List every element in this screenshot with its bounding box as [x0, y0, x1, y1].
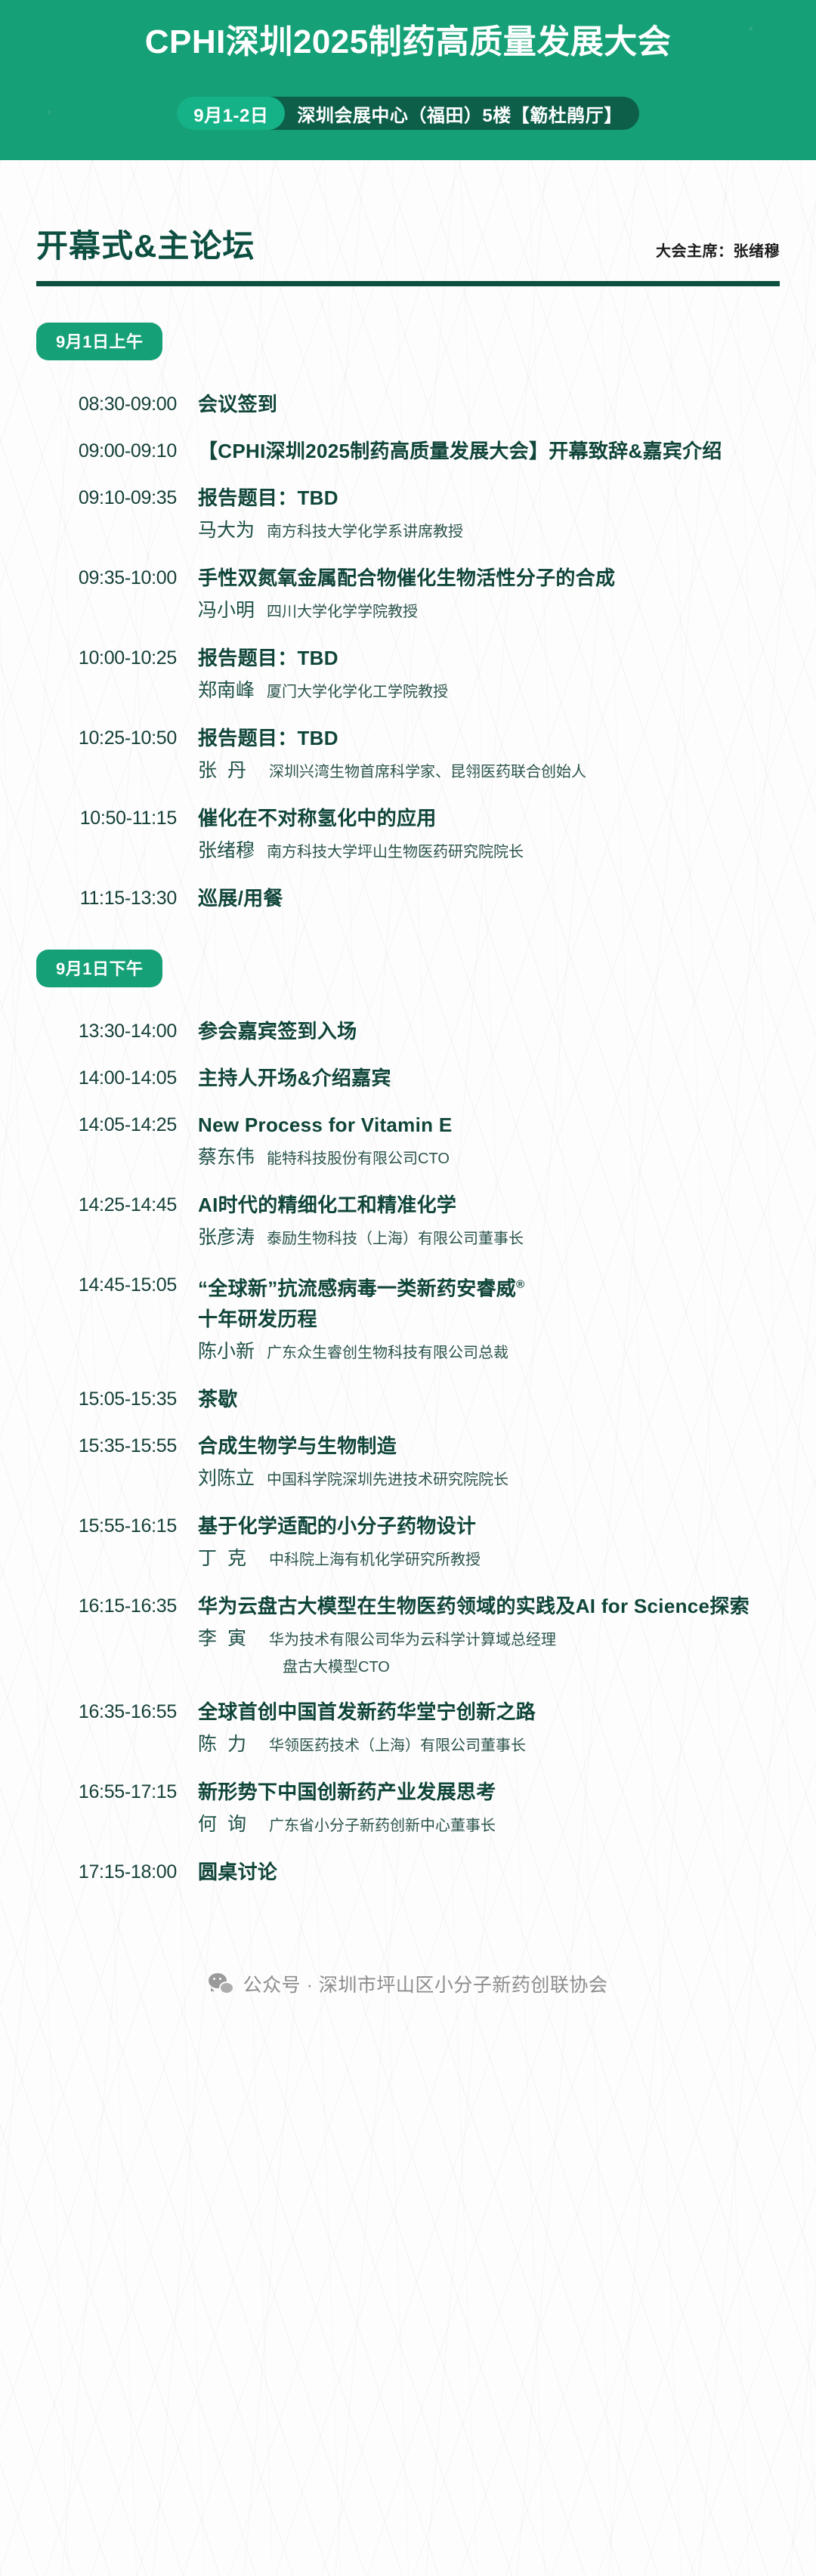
- speaker-organization: 华领医药技术（上海）有限公司董事长: [257, 1731, 526, 1760]
- agenda-row-time: 10:00-10:25: [36, 643, 177, 673]
- agenda-row-body: 基于化学适配的小分子药物设计丁克中科院上海有机化学研究所教授: [177, 1511, 780, 1574]
- speaker-organization: 南方科技大学化学系讲席教授: [255, 517, 463, 546]
- footer-label: 公众号 · 深圳市坪山区小分子新药创联协会: [243, 1970, 608, 1997]
- speaker-organization: 南方科技大学坪山生物医药研究院院长: [255, 838, 524, 866]
- agenda-row-title: 巡展/用餐: [198, 883, 780, 913]
- section-chair: 大会主席：张绪穆: [656, 239, 780, 266]
- speaker-organization: 广东众生睿创生物科技有限公司总裁: [255, 1339, 508, 1367]
- agenda-row-time: 14:00-14:05: [36, 1063, 177, 1093]
- agenda-row-time: 15:55-16:15: [36, 1511, 177, 1541]
- agenda-title-text: 参会嘉宾签到入场: [198, 1020, 357, 1042]
- agenda-row: 14:25-14:45AI时代的精细化工和精准化学张彦涛泰励生物科技（上海）有限…: [36, 1173, 780, 1253]
- agenda-row-title: 全球首创中国首发新药华堂宁创新之路: [198, 1697, 780, 1727]
- agenda-row-body: 参会嘉宾签到入场: [177, 1016, 780, 1046]
- agenda-row-time: 13:30-14:00: [36, 1016, 177, 1046]
- speaker-name: 丁克: [198, 1544, 257, 1573]
- speaker-name: 张丹: [198, 756, 257, 785]
- agenda-row-body: “全球新”抗流感病毒一类新药安睿威®十年研发历程陈小新广东众生睿创生物科技有限公…: [177, 1270, 780, 1367]
- agenda-row: 16:35-16:55全球首创中国首发新药华堂宁创新之路陈力华领医药技术（上海）…: [36, 1680, 780, 1760]
- speaker-name: 陈小新: [198, 1337, 255, 1366]
- agenda-row-body: AI时代的精细化工和精准化学张彦涛泰励生物科技（上海）有限公司董事长: [177, 1190, 780, 1253]
- agenda-row-time: 11:15-13:30: [36, 883, 177, 913]
- agenda-row-title: 主持人开场&介绍嘉宾: [198, 1063, 780, 1093]
- agenda-row-title: 报告题目：TBD: [198, 483, 780, 513]
- agenda-title-line2: 十年研发历程: [198, 1308, 317, 1330]
- agenda-sheet: 开幕式&主论坛 大会主席：张绪穆 9月1日上午08:30-09:00会议签到09…: [0, 160, 816, 2576]
- page-footer: 公众号 · 深圳市坪山区小分子新药创联协会: [0, 1887, 816, 2023]
- agenda-row-body: 圆桌讨论: [177, 1857, 780, 1887]
- agenda-content: 开幕式&主论坛 大会主席：张绪穆 9月1日上午08:30-09:00会议签到09…: [0, 160, 816, 1887]
- agenda-row-title: 合成生物学与生物制造: [198, 1431, 780, 1461]
- speaker-name: 蔡东伟: [198, 1143, 255, 1172]
- speaker-organization-line2: 盘古大模型CTO: [198, 1654, 780, 1680]
- sessions-container: 9月1日上午08:30-09:00会议签到09:00-09:10【CPHI深圳2…: [36, 286, 780, 1887]
- conference-title: CPHI深圳2025制药高质量发展大会: [0, 20, 816, 65]
- agenda-row: 16:55-17:15新形势下中国创新药产业发展思考何询广东省小分子新药创新中心…: [36, 1760, 780, 1840]
- agenda-title-text: 报告题目：TBD: [198, 727, 338, 749]
- agenda-row-body: 手性双氮氧金属配合物催化生物活性分子的合成冯小明四川大学化学学院教授: [177, 563, 780, 626]
- speaker-name: 冯小明: [198, 596, 255, 625]
- speaker-organization: 四川大学化学学院教授: [255, 598, 418, 626]
- speaker-organization: 厦门大学化学化工学院教授: [255, 678, 448, 706]
- agenda-row-title: 参会嘉宾签到入场: [198, 1016, 780, 1046]
- agenda-title-text: 圆桌讨论: [198, 1861, 277, 1883]
- agenda-row-time: 14:25-14:45: [36, 1190, 177, 1220]
- speaker-line: 冯小明四川大学化学学院教授: [198, 596, 780, 626]
- section-title: 开幕式&主论坛: [36, 227, 255, 266]
- speaker-name: 张绪穆: [198, 836, 255, 865]
- agenda-row-title: 报告题目：TBD: [198, 643, 780, 673]
- agenda-row: 10:50-11:15催化在不对称氢化中的应用张绪穆南方科技大学坪山生物医药研究…: [36, 786, 780, 866]
- agenda-row-title: AI时代的精细化工和精准化学: [198, 1190, 780, 1220]
- speaker-line: 蔡东伟能特科技股份有限公司CTO: [198, 1143, 780, 1173]
- section-divider: [36, 281, 780, 286]
- speaker-line: 郑南峰厦门大学化学化工学院教授: [198, 676, 780, 706]
- agenda-row-body: 华为云盘古大模型在生物医药领域的实践及AI for Science探索李寅华为技…: [177, 1591, 780, 1680]
- agenda-row-body: 报告题目：TBD马大为南方科技大学化学系讲席教授: [177, 483, 780, 546]
- date-badge: 9月1-2日: [177, 97, 285, 130]
- agenda-row-body: 主持人开场&介绍嘉宾: [177, 1063, 780, 1093]
- agenda-row-time: 16:55-17:15: [36, 1777, 177, 1807]
- speaker-organization: 泰励生物科技（上海）有限公司董事长: [255, 1225, 524, 1253]
- agenda-row-time: 14:05-14:25: [36, 1110, 177, 1140]
- agenda-title-text: New Process for Vitamin E: [198, 1113, 452, 1136]
- speaker-line: 李寅华为技术有限公司华为云科学计算域总经理: [198, 1624, 780, 1654]
- speaker-name: 刘陈立: [198, 1464, 255, 1493]
- agenda-row-body: New Process for Vitamin E蔡东伟能特科技股份有限公司CT…: [177, 1110, 780, 1173]
- agenda-row: 09:00-09:10【CPHI深圳2025制药高质量发展大会】开幕致辞&嘉宾介…: [36, 419, 780, 466]
- agenda-row: 10:25-10:50报告题目：TBD张丹深圳兴湾生物首席科学家、昆翎医药联合创…: [36, 706, 780, 786]
- session-block: 9月1日下午13:30-14:00参会嘉宾签到入场14:00-14:05主持人开…: [36, 913, 780, 1887]
- agenda-row-time: 09:10-09:35: [36, 483, 177, 513]
- agenda-row-time: 16:35-16:55: [36, 1697, 177, 1727]
- agenda-row-body: 新形势下中国创新药产业发展思考何询广东省小分子新药创新中心董事长: [177, 1777, 780, 1840]
- agenda-row: 14:00-14:05主持人开场&介绍嘉宾: [36, 1046, 780, 1093]
- session-rows: 08:30-09:00会议签到09:00-09:10【CPHI深圳2025制药高…: [36, 360, 780, 913]
- session-badge: 9月1日上午: [36, 323, 162, 360]
- agenda-row-time: 10:50-11:15: [36, 803, 177, 833]
- agenda-row-time: 14:45-15:05: [36, 1270, 177, 1300]
- speaker-organization: 广东省小分子新药创新中心董事长: [257, 1812, 496, 1840]
- agenda-row-time: 08:30-09:00: [36, 389, 177, 419]
- agenda-row: 17:15-18:00圆桌讨论: [36, 1840, 780, 1887]
- speaker-organization: 中科院上海有机化学研究所教授: [257, 1546, 481, 1574]
- agenda-row: 09:35-10:00手性双氮氧金属配合物催化生物活性分子的合成冯小明四川大学化…: [36, 546, 780, 626]
- session-rows: 13:30-14:00参会嘉宾签到入场14:00-14:05主持人开场&介绍嘉宾…: [36, 987, 780, 1887]
- agenda-title-text: AI时代的精细化工和精准化学: [198, 1194, 456, 1216]
- agenda-row-title: 华为云盘古大模型在生物医药领域的实践及AI for Science探索: [198, 1591, 780, 1621]
- agenda-title-text: 茶歇: [198, 1388, 238, 1410]
- agenda-row: 08:30-09:00会议签到: [36, 372, 780, 419]
- speaker-line: 张绪穆南方科技大学坪山生物医药研究院院长: [198, 836, 780, 866]
- agenda-row-title: New Process for Vitamin E: [198, 1110, 780, 1140]
- speaker-line: 陈力华领医药技术（上海）有限公司董事长: [198, 1730, 780, 1760]
- agenda-row-title: 报告题目：TBD: [198, 723, 780, 753]
- speaker-organization: 华为技术有限公司华为云科学计算域总经理: [257, 1626, 556, 1654]
- header-info-strip: 9月1-2日 深圳会展中心（福田）5楼【簕杜鹃厅】: [0, 97, 816, 130]
- agenda-row-title: 基于化学适配的小分子药物设计: [198, 1511, 780, 1541]
- session-badge: 9月1日下午: [36, 950, 162, 987]
- speaker-name: 陈力: [198, 1730, 257, 1759]
- agenda-row-time: 09:35-10:00: [36, 563, 177, 593]
- agenda-title-text: 手性双氮氧金属配合物催化生物活性分子的合成: [198, 567, 615, 589]
- speaker-name: 马大为: [198, 516, 255, 545]
- registered-trademark-icon: ®: [516, 1278, 524, 1291]
- agenda-title-text: 基于化学适配的小分子药物设计: [198, 1515, 476, 1537]
- agenda-row-body: 报告题目：TBD郑南峰厦门大学化学化工学院教授: [177, 643, 780, 706]
- speaker-name: 何询: [198, 1810, 257, 1839]
- agenda-row-time: 10:25-10:50: [36, 723, 177, 753]
- agenda-row: 10:00-10:25报告题目：TBD郑南峰厦门大学化学化工学院教授: [36, 626, 780, 706]
- agenda-row-title: 新形势下中国创新药产业发展思考: [198, 1777, 780, 1807]
- speaker-organization: 中国科学院深圳先进技术研究院院长: [255, 1466, 508, 1494]
- agenda-title-text: 【CPHI深圳2025制药高质量发展大会】开幕致辞&嘉宾介绍: [198, 440, 722, 462]
- agenda-title-text: 华为云盘古大模型在生物医药领域的实践及AI for Science探索: [198, 1595, 750, 1617]
- agenda-row: 15:55-16:15基于化学适配的小分子药物设计丁克中科院上海有机化学研究所教…: [36, 1494, 780, 1574]
- speaker-line: 刘陈立中国科学院深圳先进技术研究院院长: [198, 1464, 780, 1494]
- agenda-row-time: 17:15-18:00: [36, 1857, 177, 1887]
- speaker-line: 张彦涛泰励生物科技（上海）有限公司董事长: [198, 1223, 780, 1253]
- agenda-title-text: 会议签到: [198, 393, 277, 415]
- speaker-line: 张丹深圳兴湾生物首席科学家、昆翎医药联合创始人: [198, 756, 780, 786]
- agenda-row: 14:05-14:25New Process for Vitamin E蔡东伟能…: [36, 1093, 780, 1173]
- agenda-row-body: 【CPHI深圳2025制药高质量发展大会】开幕致辞&嘉宾介绍: [177, 436, 780, 466]
- agenda-title-text: 催化在不对称氢化中的应用: [198, 807, 437, 829]
- agenda-row-title: 圆桌讨论: [198, 1857, 780, 1887]
- speaker-organization: 能特科技股份有限公司CTO: [255, 1144, 450, 1173]
- agenda-row-title: 【CPHI深圳2025制药高质量发展大会】开幕致辞&嘉宾介绍: [198, 436, 780, 466]
- section-header: 开幕式&主论坛 大会主席：张绪穆: [36, 160, 780, 266]
- agenda-title-text: 合成生物学与生物制造: [198, 1435, 397, 1457]
- agenda-title-text: 主持人开场&介绍嘉宾: [198, 1067, 391, 1089]
- agenda-title-text: 报告题目：TBD: [198, 647, 338, 669]
- speaker-name: 李寅: [198, 1624, 257, 1653]
- speaker-line: 马大为南方科技大学化学系讲席教授: [198, 516, 780, 546]
- agenda-title-text: “全球新”抗流感病毒一类新药安睿威: [198, 1277, 516, 1300]
- agenda-row: 15:35-15:55合成生物学与生物制造刘陈立中国科学院深圳先进技术研究院院长: [36, 1414, 780, 1494]
- agenda-title-text: 报告题目：TBD: [198, 486, 338, 509]
- session-block: 9月1日上午08:30-09:00会议签到09:00-09:10【CPHI深圳2…: [36, 286, 780, 913]
- agenda-row-body: 合成生物学与生物制造刘陈立中国科学院深圳先进技术研究院院长: [177, 1431, 780, 1494]
- agenda-row-time: 09:00-09:10: [36, 436, 177, 466]
- agenda-row: 13:30-14:00参会嘉宾签到入场: [36, 999, 780, 1046]
- speaker-name: 张彦涛: [198, 1223, 255, 1252]
- agenda-row-time: 16:15-16:35: [36, 1591, 177, 1621]
- agenda-row-body: 巡展/用餐: [177, 883, 780, 913]
- agenda-title-text: 全球首创中国首发新药华堂宁创新之路: [198, 1700, 536, 1723]
- agenda-row-title: 会议签到: [198, 389, 780, 419]
- agenda-row-time: 15:05-15:35: [36, 1384, 177, 1414]
- agenda-row: 11:15-13:30巡展/用餐: [36, 866, 780, 913]
- venue-label: 深圳会展中心（福田）5楼【簕杜鹃厅】: [285, 97, 622, 130]
- agenda-row-body: 茶歇: [177, 1384, 780, 1414]
- agenda-row: 14:45-15:05“全球新”抗流感病毒一类新药安睿威®十年研发历程陈小新广东…: [36, 1253, 780, 1367]
- agenda-row: 15:05-15:35茶歇: [36, 1367, 780, 1414]
- page-header: CPHI深圳2025制药高质量发展大会 9月1-2日 深圳会展中心（福田）5楼【…: [0, 0, 816, 160]
- speaker-name: 郑南峰: [198, 676, 255, 705]
- speaker-line: 丁克中科院上海有机化学研究所教授: [198, 1544, 780, 1574]
- agenda-row-title: 催化在不对称氢化中的应用: [198, 803, 780, 833]
- agenda-row: 09:10-09:35报告题目：TBD马大为南方科技大学化学系讲席教授: [36, 466, 780, 546]
- agenda-row: 16:15-16:35华为云盘古大模型在生物医药领域的实践及AI for Sci…: [36, 1574, 780, 1680]
- wechat-icon: [209, 1973, 234, 1994]
- speaker-line: 何询广东省小分子新药创新中心董事长: [198, 1810, 780, 1840]
- agenda-row-time: 15:35-15:55: [36, 1431, 177, 1461]
- agenda-row-body: 全球首创中国首发新药华堂宁创新之路陈力华领医药技术（上海）有限公司董事长: [177, 1697, 780, 1760]
- agenda-row-title: 茶歇: [198, 1384, 780, 1414]
- agenda-title-text: 巡展/用餐: [198, 887, 283, 910]
- agenda-row-title: “全球新”抗流感病毒一类新药安睿威®十年研发历程: [198, 1270, 780, 1334]
- agenda-row-title: 手性双氮氧金属配合物催化生物活性分子的合成: [198, 563, 780, 593]
- agenda-row-body: 催化在不对称氢化中的应用张绪穆南方科技大学坪山生物医药研究院院长: [177, 803, 780, 866]
- agenda-row-body: 报告题目：TBD张丹深圳兴湾生物首席科学家、昆翎医药联合创始人: [177, 723, 780, 786]
- agenda-title-text: 新形势下中国创新药产业发展思考: [198, 1781, 496, 1803]
- agenda-row-body: 会议签到: [177, 389, 780, 419]
- speaker-organization: 深圳兴湾生物首席科学家、昆翎医药联合创始人: [257, 758, 586, 786]
- speaker-line: 陈小新广东众生睿创生物科技有限公司总裁: [198, 1337, 780, 1367]
